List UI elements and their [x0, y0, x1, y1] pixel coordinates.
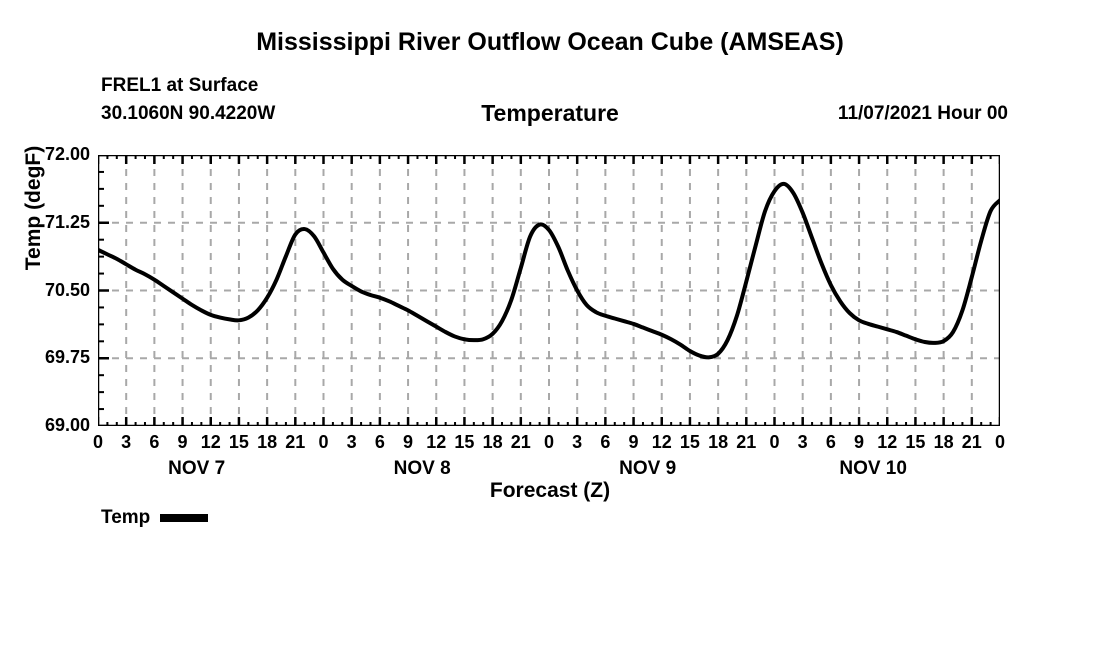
x-tick-label: 3: [572, 432, 582, 453]
x-tick-label: 0: [544, 432, 554, 453]
x-tick-label: 6: [600, 432, 610, 453]
page-title: Mississippi River Outflow Ocean Cube (AM…: [0, 28, 1100, 57]
x-tick-label: 12: [201, 432, 221, 453]
x-axis-title: Forecast (Z): [0, 479, 1100, 503]
x-tick-label: 18: [483, 432, 503, 453]
x-day-label: NOV 8: [394, 458, 451, 480]
x-tick-label: 6: [826, 432, 836, 453]
x-tick-label: 3: [347, 432, 357, 453]
y-tick-label: 70.50: [12, 280, 90, 301]
x-tick-label: 21: [285, 432, 305, 453]
x-tick-label: 12: [426, 432, 446, 453]
x-tick-label: 3: [798, 432, 808, 453]
x-tick-label: 21: [736, 432, 756, 453]
y-tick-labels: 69.0069.7570.5071.2572.00: [12, 0, 90, 650]
chart-page: Mississippi River Outflow Ocean Cube (AM…: [0, 0, 1100, 650]
plot-area: [98, 155, 1000, 426]
x-day-label: NOV 7: [168, 458, 225, 480]
y-tick-label: 71.25: [12, 212, 90, 233]
x-tick-label: 9: [629, 432, 639, 453]
x-tick-label: 12: [877, 432, 897, 453]
x-tick-label: 15: [905, 432, 925, 453]
station-label: FREL1 at Surface: [101, 75, 258, 97]
x-tick-label: 0: [318, 432, 328, 453]
x-day-label: NOV 9: [619, 458, 676, 480]
y-tick-label: 69.75: [12, 347, 90, 368]
legend-line-swatch: [160, 514, 208, 522]
chart-legend: Temp: [101, 507, 208, 529]
y-tick-label: 69.00: [12, 415, 90, 436]
x-tick-label: 3: [121, 432, 131, 453]
x-tick-label: 15: [454, 432, 474, 453]
x-tick-label: 0: [769, 432, 779, 453]
left-axis-ticks: [98, 155, 109, 426]
x-tick-label: 9: [403, 432, 413, 453]
x-tick-label: 18: [934, 432, 954, 453]
x-tick-label: 0: [93, 432, 103, 453]
x-tick-label: 18: [708, 432, 728, 453]
y-tick-label: 72.00: [12, 144, 90, 165]
top-axis-ticks: [98, 155, 1000, 164]
x-tick-label: 21: [511, 432, 531, 453]
x-day-label: NOV 10: [839, 458, 907, 480]
legend-label: Temp: [101, 507, 150, 529]
x-tick-label: 21: [962, 432, 982, 453]
x-tick-label: 15: [680, 432, 700, 453]
run-time-label: 11/07/2021 Hour 00: [838, 103, 1008, 125]
x-tick-label: 9: [854, 432, 864, 453]
temperature-line-chart: [98, 155, 1000, 426]
bottom-axis-ticks: [98, 417, 1000, 426]
x-tick-label: 6: [375, 432, 385, 453]
x-tick-label: 12: [652, 432, 672, 453]
x-tick-label: 0: [995, 432, 1005, 453]
x-tick-label: 6: [149, 432, 159, 453]
x-tick-label: 15: [229, 432, 249, 453]
x-tick-label: 18: [257, 432, 277, 453]
x-tick-label: 9: [178, 432, 188, 453]
